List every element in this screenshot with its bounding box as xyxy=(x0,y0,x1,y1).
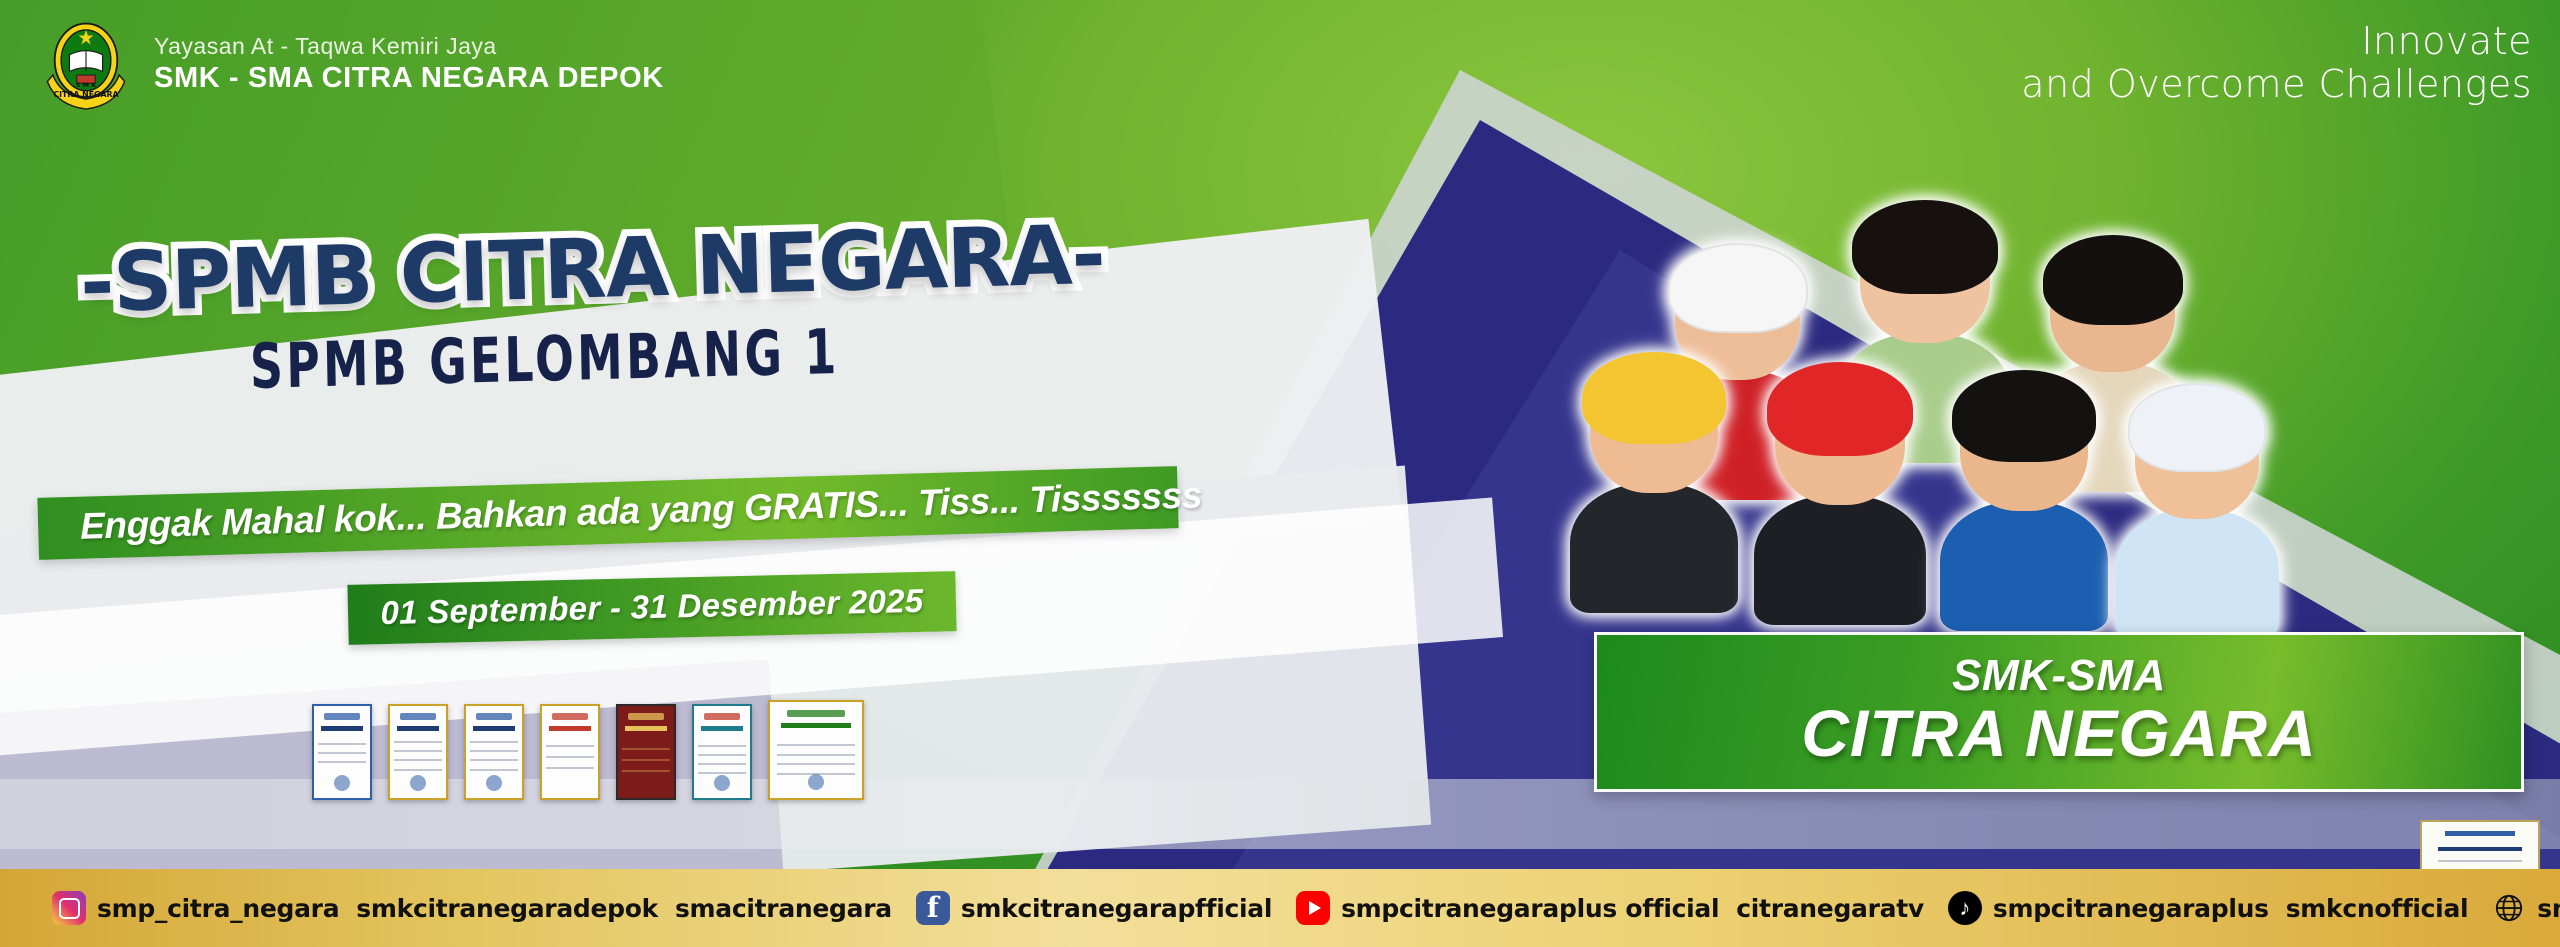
social-handle[interactable]: smkcitranegarapfficial xyxy=(961,894,1272,923)
social-handle[interactable]: citranegaratv xyxy=(1736,894,1924,923)
social-group-youtube[interactable]: smpcitranegaraplus official citranegarat… xyxy=(1296,891,1924,925)
certificate-thumb xyxy=(540,704,600,800)
subheadline: SPMB GELOMBANG 1 xyxy=(249,315,840,403)
social-handle[interactable]: smacitranegara xyxy=(675,894,892,923)
school-name: SMK - SMA CITRA NEGARA DEPOK xyxy=(154,61,664,96)
social-handle[interactable]: smpcitranegaraplus official xyxy=(1341,894,1719,923)
facebook-icon[interactable]: f xyxy=(916,891,950,925)
promotional-banner: CITRA NEGARA S M K Yayasan At - Taqwa Ke… xyxy=(0,0,2560,947)
school-label-box: SMK-SMA CITRA NEGARA xyxy=(1594,632,2524,792)
svg-text:S M K: S M K xyxy=(76,81,98,89)
globe-icon[interactable] xyxy=(2492,891,2526,925)
certificate-gallery xyxy=(312,700,864,800)
foundation-name: Yayasan At - Taqwa Kemiri Jaya xyxy=(154,32,664,61)
social-handle[interactable]: smkcitranegaradepok xyxy=(356,894,658,923)
website-url[interactable]: smpcitranegaraplus.sch.id xyxy=(2537,894,2560,923)
social-handle[interactable]: smp_citra_negara xyxy=(97,894,339,923)
social-media-footer: smp_citra_negara smkcitranegaradepok sma… xyxy=(0,869,2560,947)
school-label-line-2: CITRA NEGARA xyxy=(1801,698,2317,769)
student-yellow-hijab-black-blazer xyxy=(1590,365,1718,613)
certificate-thumb xyxy=(616,704,676,800)
social-group-instagram[interactable]: smp_citra_negara smkcitranegaradepok sma… xyxy=(52,891,892,925)
school-label-line-1: SMK-SMA xyxy=(1952,654,2166,698)
certificate-thumb xyxy=(692,704,752,800)
certificate-thumb xyxy=(464,704,524,800)
student-photo-group xyxy=(1560,95,2520,655)
social-group-facebook[interactable]: f smkcitranegarapfficial xyxy=(916,891,1272,925)
certificate-thumb xyxy=(312,704,372,800)
student-blue-uniform-male xyxy=(1960,383,2088,631)
social-handle[interactable]: smpcitranegaraplus xyxy=(1993,894,2269,923)
tiktok-icon[interactable]: ♪ xyxy=(1948,891,1982,925)
social-group-website[interactable]: smpcitranegaraplus.sch.id smkscitranegar… xyxy=(2492,891,2560,925)
svg-text:CITRA NEGARA: CITRA NEGARA xyxy=(53,90,119,99)
student-white-hijab-tablet xyxy=(2135,395,2259,639)
banner-header: CITRA NEGARA S M K Yayasan At - Taqwa Ke… xyxy=(40,18,664,110)
motto-block: Innovate and Overcome Challenges xyxy=(2021,20,2532,107)
school-crest-logo: CITRA NEGARA S M K xyxy=(40,18,132,110)
youtube-icon[interactable] xyxy=(1296,891,1330,925)
social-group-tiktok[interactable]: ♪ smpcitranegaraplus smkcnofficial xyxy=(1948,891,2468,925)
student-red-hijab-photographer xyxy=(1775,375,1905,625)
instagram-icon[interactable] xyxy=(52,891,86,925)
certificate-thumb xyxy=(388,704,448,800)
header-text-block: Yayasan At - Taqwa Kemiri Jaya SMK - SMA… xyxy=(154,32,664,96)
social-handle[interactable]: smkcnofficial xyxy=(2286,894,2469,923)
certificate-thumb xyxy=(768,700,864,800)
motto-line-1: Innovate xyxy=(2021,20,2532,63)
